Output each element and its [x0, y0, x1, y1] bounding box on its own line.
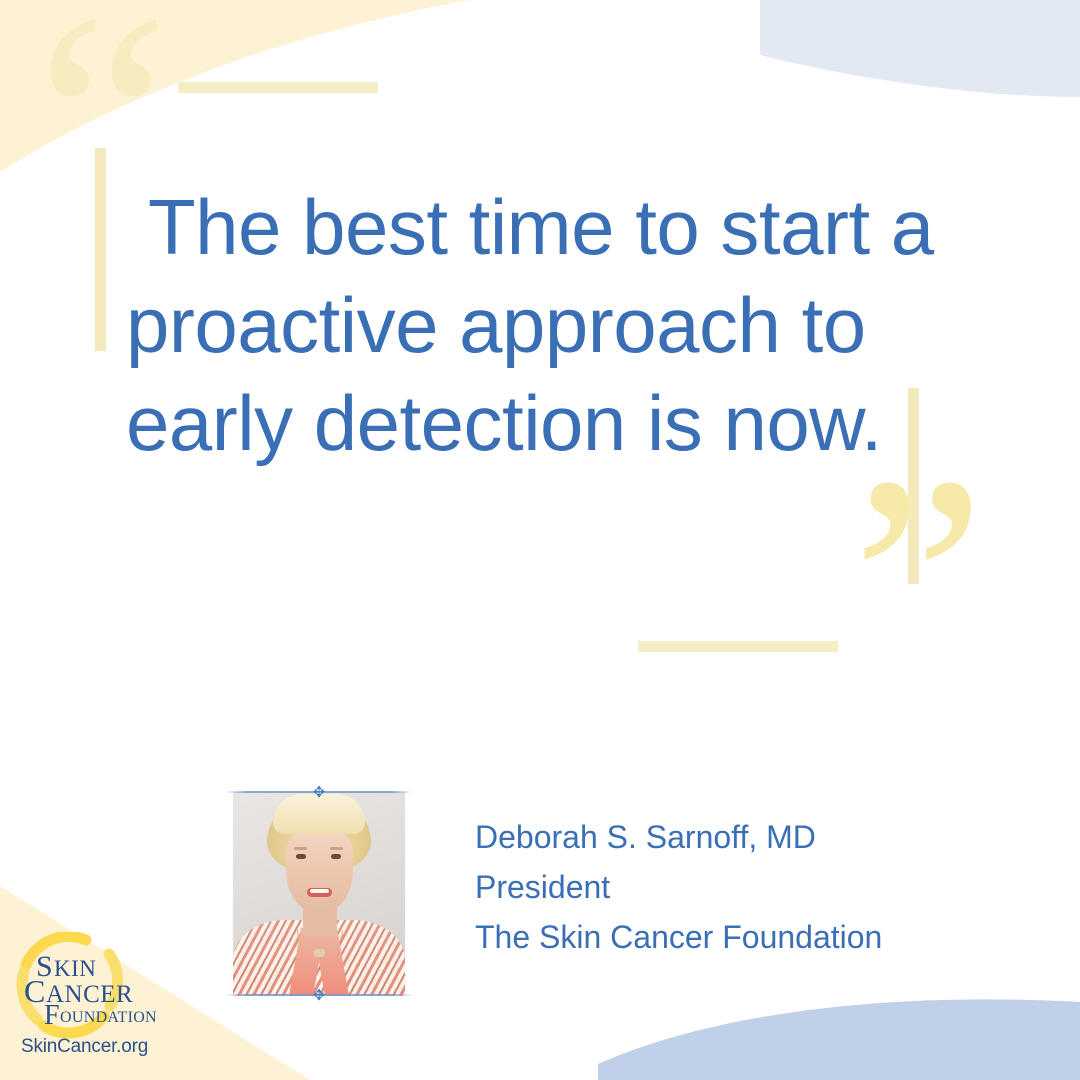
- selection-handle-top-icon[interactable]: ✥: [312, 785, 326, 799]
- attribution-name: Deborah S. Sarnoff, MD: [475, 812, 995, 862]
- attribution-title: President: [475, 862, 995, 912]
- bottom-right-blue-shape: [598, 999, 1080, 1080]
- logo-text-cancer-c: C: [24, 973, 45, 1009]
- logo-mark-icon: S KIN C ANCER F OUNDATION: [8, 932, 158, 1040]
- portrait-eyebrow-right: [330, 847, 343, 850]
- closing-quote-icon: ”: [852, 431, 987, 731]
- portrait-photo[interactable]: [233, 792, 405, 996]
- portrait-eye-right: [331, 854, 341, 859]
- quote-card: “ ” The best time to start a proactive a…: [0, 0, 1080, 1080]
- portrait-pendant: [314, 949, 325, 957]
- horizontal-rule-top: [178, 82, 378, 93]
- logo-url-text[interactable]: SkinCancer.org: [21, 1036, 148, 1058]
- logo-text-foundation-rest: OUNDATION: [60, 1009, 157, 1026]
- logo-text-skin-rest: KIN: [54, 956, 96, 981]
- portrait-face: [286, 824, 353, 912]
- skin-cancer-foundation-logo[interactable]: S KIN C ANCER F OUNDATION SkinCancer.org: [8, 932, 168, 1074]
- portrait-eyebrow-left: [294, 847, 307, 850]
- quote-line: The best time to start a: [126, 178, 926, 276]
- quote-line: proactive approach to: [126, 276, 926, 374]
- portrait-eye-left: [296, 854, 306, 859]
- horizontal-rule-bottom: [638, 641, 838, 652]
- attribution-block: Deborah S. Sarnoff, MD President The Ski…: [475, 812, 995, 962]
- portrait-selection-group[interactable]: ✥ ✥: [233, 788, 405, 1000]
- quote-line: early detection is now.: [126, 374, 926, 472]
- attribution-organization: The Skin Cancer Foundation: [475, 912, 995, 962]
- portrait-teeth: [310, 889, 329, 893]
- selection-handle-bottom-icon[interactable]: ✥: [312, 988, 326, 1002]
- vertical-rule-left: [95, 148, 106, 351]
- quote-text-block: The best time to start a proactive appro…: [126, 178, 926, 472]
- top-right-blue-shape: [760, 0, 1080, 97]
- logo-text-foundation-f: F: [44, 1000, 60, 1031]
